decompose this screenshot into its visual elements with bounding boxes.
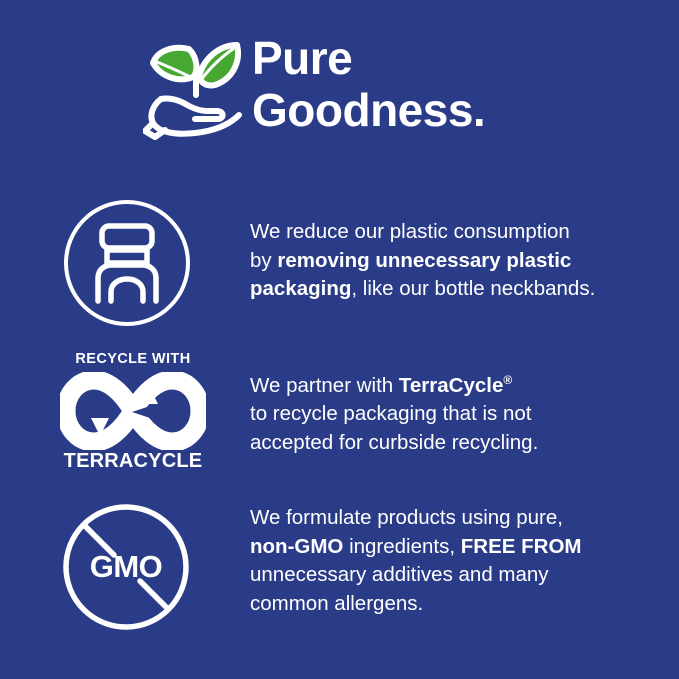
emphasis-text: packaging: [250, 277, 351, 300]
page-title: Pure Goodness.: [252, 32, 672, 136]
pure-goodness-infographic: Pure Goodness. We reduce our plastic con…: [0, 0, 679, 679]
body-text: We reduce our plastic consumption: [250, 220, 570, 243]
terracycle-logo: RECYCLE WITH ® TERRACYCLE: [60, 350, 206, 474]
feature-row-terracycle: RECYCLE WITH ® TERRACYCLE: [0, 348, 679, 478]
title-line-2: Goodness.: [252, 84, 672, 136]
body-text: common allergens.: [250, 592, 423, 615]
feature-text-gmo: We formulate products using pure,non-GMO…: [192, 496, 679, 618]
body-text: We formulate products using pure,: [250, 506, 563, 529]
body-text: ingredients,: [343, 535, 460, 558]
title-line-1: Pure: [252, 32, 672, 84]
feature-line: We formulate products using pure,: [250, 504, 665, 533]
plastic-bottle-neckband-icon: [0, 196, 192, 331]
terracycle-bottom-text: TERRACYCLE: [60, 450, 206, 472]
feature-line: We reduce our plastic consumption: [250, 218, 665, 247]
feature-row-plastic: We reduce our plastic consumptionby remo…: [0, 196, 679, 331]
no-gmo-symbol: GMO: [62, 503, 182, 623]
emphasis-text: TerraCycle: [399, 374, 503, 397]
body-text: We partner with: [250, 374, 399, 397]
feature-line: packaging, like our bottle neckbands.: [250, 275, 665, 304]
body-text: , like our bottle neckbands.: [351, 277, 595, 300]
feature-line: unnecessary additives and many: [250, 561, 665, 590]
body-text: by: [250, 249, 277, 272]
hand-holding-sprout-icon: [143, 33, 263, 141]
feature-line: to recycle packaging that is not: [250, 400, 665, 429]
emphasis-text: removing unnecessary plastic: [277, 249, 571, 272]
terracycle-logo-icon: RECYCLE WITH ® TERRACYCLE: [0, 348, 192, 478]
body-text: accepted for curbside recycling.: [250, 431, 538, 454]
feature-text-plastic: We reduce our plastic consumptionby remo…: [192, 196, 679, 304]
terracycle-top-text: RECYCLE WITH: [60, 350, 206, 368]
header: Pure Goodness.: [0, 0, 679, 175]
body-text: to recycle packaging that is not: [250, 402, 531, 425]
registered-mark-icon: ®: [182, 430, 189, 440]
feature-line: accepted for curbside recycling.: [250, 429, 665, 458]
registered-mark-icon: ®: [503, 373, 512, 387]
emphasis-text: non-GMO: [250, 535, 343, 558]
emphasis-text: FREE FROM: [461, 535, 582, 558]
feature-line: common allergens.: [250, 590, 665, 619]
feature-line: by removing unnecessary plastic: [250, 247, 665, 276]
gmo-label: GMO: [62, 503, 190, 631]
feature-line: non-GMO ingredients, FREE FROM: [250, 533, 665, 562]
feature-text-terracycle: We partner with TerraCycle®to recycle pa…: [192, 348, 679, 457]
feature-line: We partner with TerraCycle®: [250, 366, 665, 400]
no-gmo-icon: GMO: [0, 496, 192, 636]
body-text: unnecessary additives and many: [250, 563, 549, 586]
feature-row-gmo: GMO We formulate products using pure,non…: [0, 496, 679, 636]
